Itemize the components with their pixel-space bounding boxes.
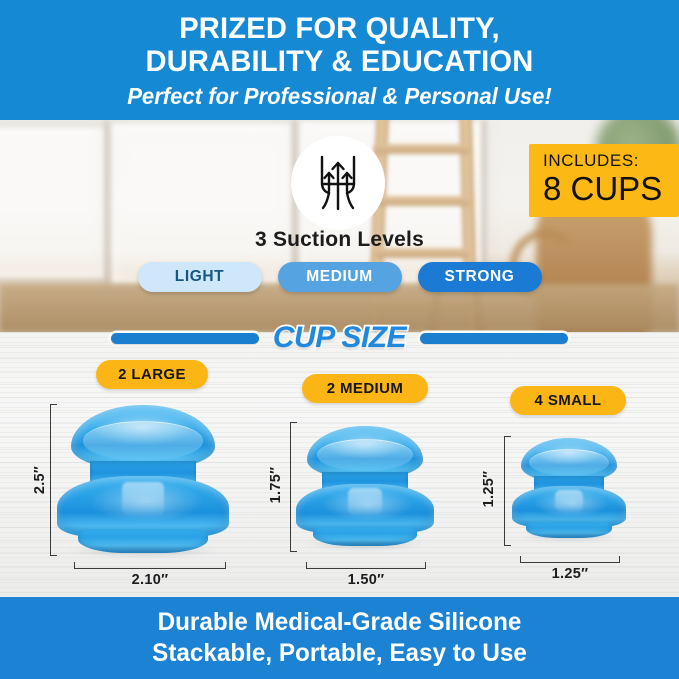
cup-width-dimension-line-large: [74, 562, 226, 569]
cup-illustration-small: [512, 438, 626, 538]
suction-icon-badge: [291, 136, 385, 230]
suction-levels-title: 3 Suction Levels: [0, 228, 679, 252]
cup-group-small: 4 SMALL 1.25″ 1.25″: [450, 386, 679, 590]
cup-drop-shadow: [304, 539, 425, 550]
cup-drop-shadow: [67, 544, 218, 557]
top-banner-headline-line1: PRIZED FOR QUALITY,: [10, 12, 669, 45]
top-banner: PRIZED FOR QUALITY, DURABILITY & EDUCATI…: [0, 0, 679, 120]
cup-highlight: [555, 490, 582, 512]
cup-width-label-small: 1.25″: [520, 566, 620, 582]
cup-size-rule-left: [111, 333, 259, 344]
suction-level-medium[interactable]: MEDIUM: [278, 262, 402, 292]
cup-highlight: [348, 488, 381, 514]
cup-height-label-small: 1.25″: [481, 458, 497, 520]
wooden-ladder-rung: [374, 144, 470, 154]
includes-badge-label: INCLUDES:: [543, 151, 679, 171]
bottom-banner: Durable Medical-Grade Silicone Stackable…: [0, 597, 679, 679]
top-banner-subtitle: Perfect for Professional & Personal Use!: [14, 81, 666, 111]
suction-arrows-icon: [310, 153, 366, 213]
includes-badge-value: 8 CUPS: [543, 171, 679, 207]
cup-height-label-medium: 1.75″: [268, 454, 284, 516]
cup-size-heading-row: CUP SIZE: [0, 316, 679, 360]
product-infographic: PRIZED FOR QUALITY, DURABILITY & EDUCATI…: [0, 0, 679, 679]
cup-width-dimension-line-small: [520, 556, 620, 563]
cup-height-dimension-line-small: [504, 436, 511, 546]
cup-illustration-medium: [296, 426, 434, 546]
suction-levels-pill-row: LIGHT MEDIUM STRONG: [0, 262, 679, 292]
suction-level-light[interactable]: LIGHT: [138, 262, 262, 292]
suction-level-strong[interactable]: STRONG: [418, 262, 542, 292]
cup-upper-ridge: [529, 449, 609, 476]
cup-height-dimension-line-large: [50, 404, 57, 556]
cabinet-panel: [112, 124, 292, 284]
cup-width-label-medium: 1.50″: [306, 572, 426, 588]
cup-illustration-large: [57, 405, 229, 553]
cup-width-label-large: 2.10″: [74, 572, 226, 588]
cup-badge-large: 2 LARGE: [96, 360, 208, 389]
cup-size-heading: CUP SIZE: [273, 321, 406, 355]
cabinet-panel: [0, 128, 106, 278]
cup-size-rule-right: [420, 333, 568, 344]
cup-upper-ridge: [83, 421, 203, 460]
cup-badge-small: 4 SMALL: [510, 386, 626, 415]
includes-badge: INCLUDES: 8 CUPS: [529, 144, 679, 217]
cup-height-dimension-line-medium: [290, 422, 297, 552]
bottom-banner-line1: Durable Medical-Grade Silicone: [10, 607, 669, 638]
cup-width-dimension-line-medium: [306, 562, 426, 569]
bottom-banner-line2: Stackable, Portable, Easy to Use: [10, 638, 669, 669]
cup-highlight: [122, 482, 163, 515]
cup-height-label-large: 2.5″: [32, 450, 48, 510]
wooden-ladder-rung: [374, 196, 470, 206]
cup-drop-shadow: [519, 532, 619, 541]
cup-badge-medium: 2 MEDIUM: [302, 374, 428, 403]
top-banner-headline-line2: DURABILITY & EDUCATION: [10, 45, 669, 78]
